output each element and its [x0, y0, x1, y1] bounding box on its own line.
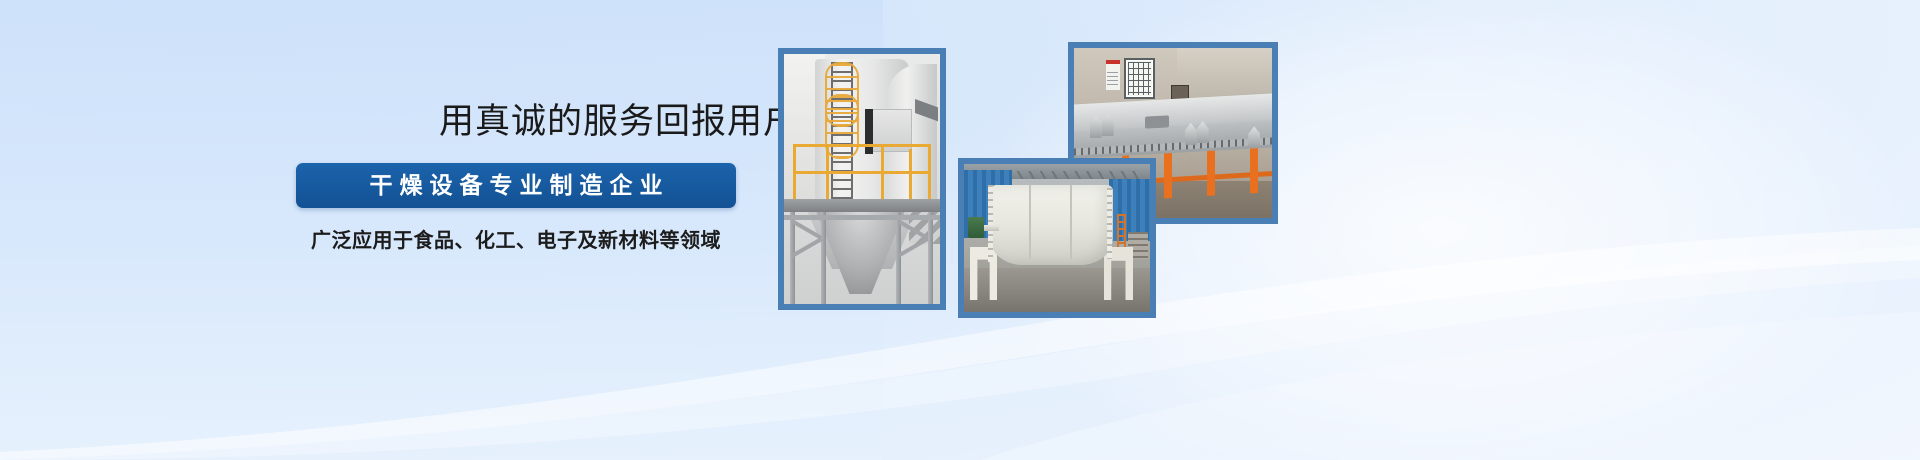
promo-banner: 用真诚的服务回报用户 干燥设备专业制造企业 广泛应用于食品、化工、电子及新材料等… — [0, 0, 1920, 460]
photo-spray-dryer-tower[interactable] — [778, 48, 946, 310]
ribbon-mixer-scene — [964, 164, 1150, 312]
tagline-text: 干燥设备专业制造企业 — [363, 174, 670, 197]
banner-subline: 广泛应用于食品、化工、电子及新材料等领域 — [296, 231, 736, 251]
tagline-bar: 干燥设备专业制造企业 — [296, 163, 736, 208]
photo-ribbon-mixer[interactable] — [958, 158, 1156, 318]
spray-dryer-scene — [784, 54, 940, 304]
